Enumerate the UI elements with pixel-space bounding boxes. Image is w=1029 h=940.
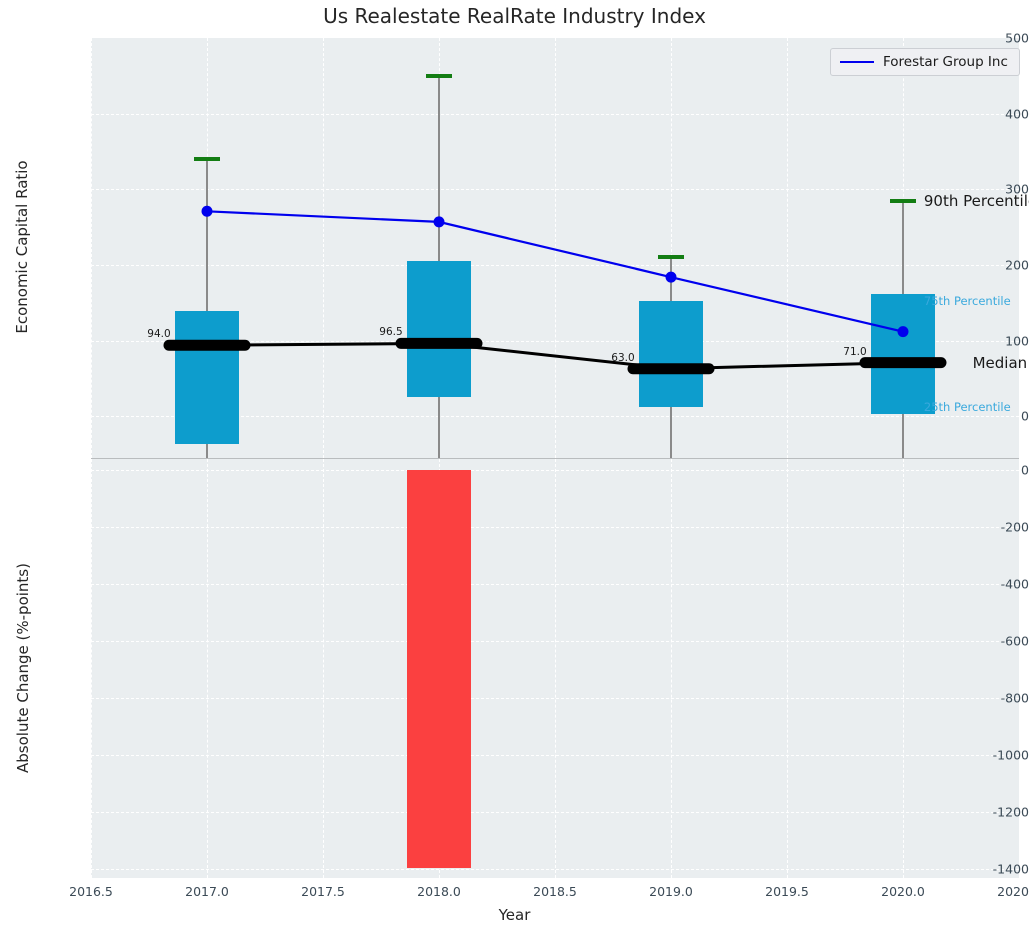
legend-line-icon: [840, 61, 874, 63]
bottom-panel-absolute-change: [91, 459, 1019, 878]
y-tick-label-bottom: 0: [951, 463, 1029, 478]
chart-figure: Us Realestate RealRate Industry Index 01…: [0, 0, 1029, 940]
y-tick-label-bottom: -1200: [951, 805, 1029, 820]
x-tick-label: 2016.5: [46, 884, 136, 899]
y-tick-label-bottom: -600: [951, 634, 1029, 649]
absolute-change-bar: [407, 470, 471, 868]
percentile-90-cap: [426, 74, 452, 78]
y-tick-label-top: 100: [951, 333, 1029, 348]
median-value-label: 71.0: [843, 346, 866, 358]
legend[interactable]: Forestar Group Inc: [830, 48, 1020, 76]
panel-divider: [91, 458, 1019, 459]
percentile-annotation: 75th Percentile: [924, 294, 1011, 308]
percentile-90-cap: [658, 255, 684, 259]
y-axis-label-bottom: Absolute Change (%-points): [14, 543, 32, 793]
y-tick-label-top: 500: [951, 31, 1029, 46]
chart-title: Us Realestate RealRate Industry Index: [0, 4, 1029, 28]
interquartile-box: [175, 311, 239, 444]
percentile-90-cap: [890, 199, 916, 203]
median-value-label: 94.0: [147, 328, 170, 340]
x-axis-label: Year: [0, 906, 1029, 924]
gridline-vertical: [1019, 38, 1020, 458]
percentile-annotation: 90th Percentile: [924, 192, 1029, 210]
y-tick-label-bottom: -200: [951, 520, 1029, 535]
x-tick-label: 2018.5: [510, 884, 600, 899]
percentile-annotation: Median: [973, 354, 1028, 372]
median-value-label: 96.5: [379, 326, 402, 338]
x-tick-label: 2018.0: [394, 884, 484, 899]
x-tick-label: 2019.5: [742, 884, 832, 899]
x-tick-label: 2020.0: [858, 884, 948, 899]
interquartile-box: [871, 294, 935, 414]
y-tick-label-top: 400: [951, 106, 1029, 121]
interquartile-box: [639, 301, 703, 406]
y-tick-label-bottom: -400: [951, 577, 1029, 592]
x-tick-label: 2020.5: [974, 884, 1029, 899]
percentile-annotation: 25th Percentile: [924, 400, 1011, 414]
y-tick-label-bottom: -800: [951, 691, 1029, 706]
median-value-label: 63.0: [611, 352, 634, 364]
y-tick-label-top: 200: [951, 258, 1029, 273]
x-tick-label: 2017.5: [278, 884, 368, 899]
percentile-90-cap: [194, 157, 220, 161]
legend-label: Forestar Group Inc: [883, 54, 1008, 70]
x-tick-label: 2017.0: [162, 884, 252, 899]
y-tick-label-bottom: -1000: [951, 748, 1029, 763]
y-axis-label-top: Economic Capital Ratio: [13, 147, 31, 347]
x-tick-label: 2019.0: [626, 884, 716, 899]
interquartile-box: [407, 261, 471, 396]
y-tick-label-bottom: -1400: [951, 862, 1029, 877]
